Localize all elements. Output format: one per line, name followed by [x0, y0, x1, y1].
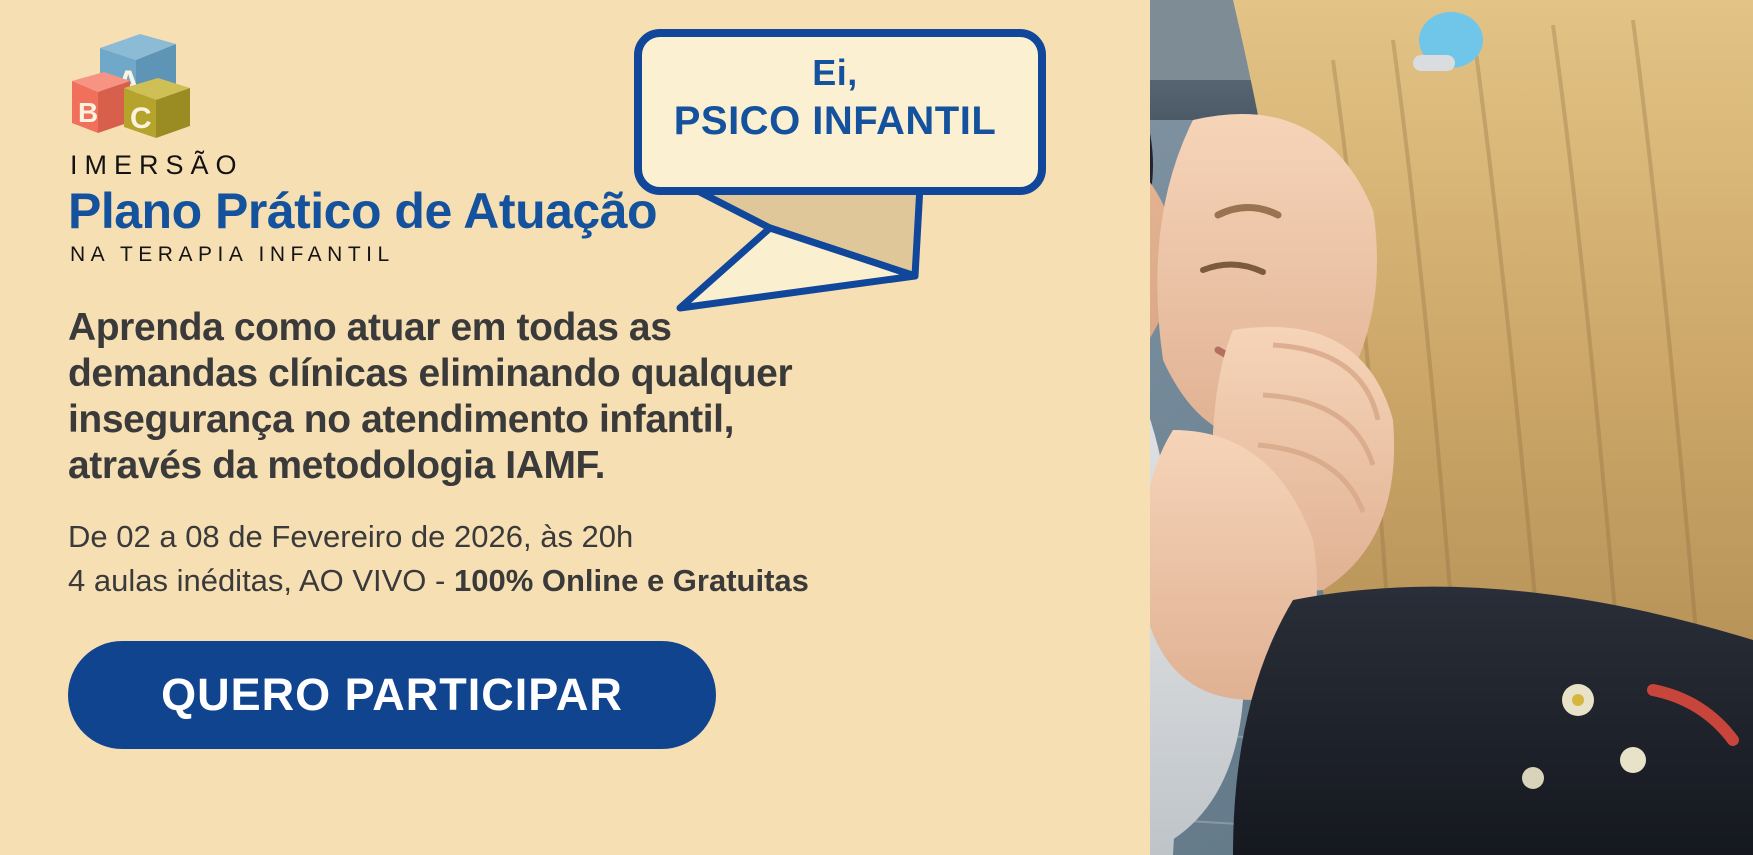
- classes-prefix: 4 aulas inéditas, AO VIVO -: [68, 563, 454, 598]
- bubble-body: [638, 33, 1042, 191]
- pitch-line-4: através da metodologia IAMF.: [68, 443, 858, 489]
- block-b-icon: B: [72, 72, 130, 133]
- pitch-line-2: demandas clínicas eliminando qualquer: [68, 351, 858, 397]
- quero-participar-button[interactable]: QUERO PARTICIPAR: [68, 641, 716, 749]
- event-classes-line: 4 aulas inéditas, AO VIVO - 100% Online …: [68, 559, 960, 603]
- pitch-paragraph: Aprenda como atuar em todas as demandas …: [68, 305, 858, 489]
- svg-text:C: C: [130, 102, 152, 135]
- block-c-icon: C: [124, 78, 190, 138]
- classes-highlight: 100% Online e Gratuitas: [454, 563, 809, 598]
- event-date-line: De 02 a 08 de Fevereiro de 2026, às 20h: [68, 515, 960, 559]
- abc-blocks-logo: A B C: [68, 26, 198, 136]
- svg-text:B: B: [78, 97, 98, 128]
- pitch-line-3: insegurança no atendimento infantil,: [68, 397, 858, 443]
- speech-bubble: Ei, PSICO INFANTIL: [630, 18, 1050, 298]
- promo-banner: A B C IMERSÃO Plano Prático de: [0, 0, 1753, 855]
- pitch-line-1: Aprenda como atuar em todas as: [68, 305, 858, 351]
- event-info: De 02 a 08 de Fevereiro de 2026, às 20h …: [68, 515, 960, 603]
